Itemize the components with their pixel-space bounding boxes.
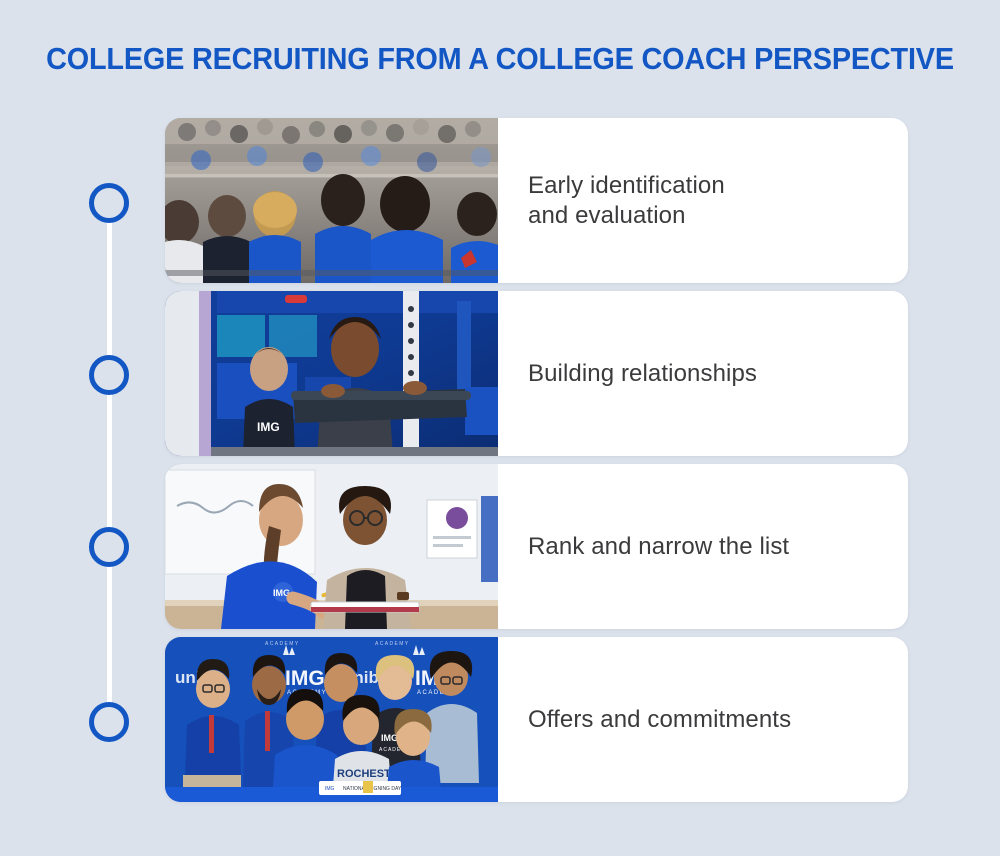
- timeline-marker-step-4[interactable]: [89, 702, 129, 742]
- bench-players-photo: [165, 118, 498, 283]
- step-card-1[interactable]: Early identification and evaluation: [165, 118, 908, 283]
- step-card-1-body: Early identification and evaluation: [498, 118, 908, 283]
- step-4-label: Offers and commitments: [528, 705, 791, 735]
- step-card-4[interactable]: uniba IMG ACADEMY uniball IMG ACADEMY AC…: [165, 637, 908, 802]
- step-3-label: Rank and narrow the list: [528, 532, 789, 562]
- step-card-3[interactable]: IMG Rank and narrow the list: [165, 464, 908, 629]
- svg-text:IMG: IMG: [285, 667, 325, 690]
- step-1-label-line2: and evaluation: [528, 202, 686, 229]
- page-title: COLLEGE RECRUITING FROM A COLLEGE COACH …: [35, 40, 965, 78]
- timeline-connector-line: [107, 198, 112, 726]
- svg-text:ACADEMY: ACADEMY: [265, 641, 300, 647]
- step-1-label-line1: Early identification: [528, 172, 725, 199]
- step-card-4-body: Offers and commitments: [498, 637, 908, 802]
- signing-day-photo: uniba IMG ACADEMY uniball IMG ACADEMY AC…: [165, 637, 498, 802]
- step-2-label: Building relationships: [528, 359, 757, 389]
- svg-text:IMG: IMG: [325, 786, 335, 792]
- timeline-marker-step-1[interactable]: [89, 183, 129, 223]
- svg-text:IMG: IMG: [381, 733, 398, 743]
- timeline-rail: [88, 180, 130, 745]
- timeline-marker-step-2[interactable]: [89, 355, 129, 395]
- steps-list: Early identification and evaluation: [165, 118, 908, 810]
- step-card-2-body: Building relationships: [498, 291, 908, 456]
- advisor-meeting-photo: IMG: [165, 464, 498, 629]
- step-1-label: Early identification and evaluation: [528, 171, 725, 231]
- step-card-2[interactable]: IMG Building relationships: [165, 291, 908, 456]
- timeline-marker-step-3[interactable]: [89, 527, 129, 567]
- weight-room-athletes-photo: IMG: [165, 291, 498, 456]
- step-card-3-body: Rank and narrow the list: [498, 464, 908, 629]
- svg-text:ACADEMY: ACADEMY: [375, 641, 410, 647]
- svg-text:IMG: IMG: [257, 420, 280, 434]
